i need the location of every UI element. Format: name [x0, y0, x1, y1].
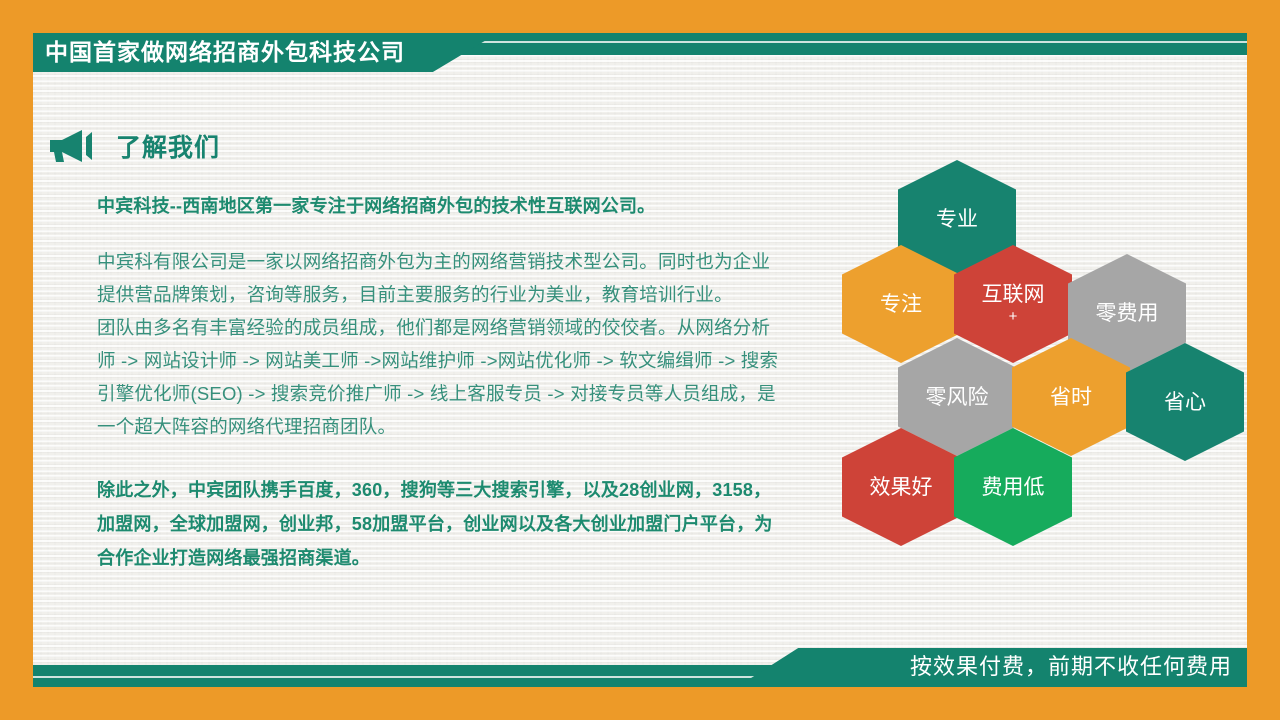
megaphone-icon — [48, 128, 94, 164]
hexagon-cluster: 专业专注互联网+零费用零风险省时省心效果好费用低 — [830, 150, 1250, 540]
paragraph-2: 团队由多名有丰富经验的成员组成，他们都是网络营销领域的佼佼者。从网络分析师 ->… — [97, 311, 787, 443]
paragraph-3: 除此之外，中宾团队携手百度，360，搜狗等三大搜索引擎，以及28创业网，3158… — [97, 473, 787, 575]
lead-paragraph: 中宾科技--西南地区第一家专注于网络招商外包的技术性互联网公司。 — [97, 190, 787, 223]
slide-canvas: 中国首家做网络招商外包科技公司 了解我们 中宾科技--西南地区第一家专注于网络招… — [0, 0, 1280, 720]
hexagon-label: 费用低 — [982, 475, 1045, 500]
paragraph-1: 中宾科有限公司是一家以网络招商外包为主的网络营销技术型公司。同时也为企业提供营品… — [97, 245, 787, 311]
hexagon-label: 效果好 — [870, 475, 933, 500]
hexagon-label: 省时 — [1050, 385, 1092, 410]
footer-tagline: 按效果付费，前期不收任何费用 — [910, 652, 1232, 682]
section-title: 了解我们 — [116, 128, 220, 164]
section-heading: 了解我们 — [48, 128, 220, 164]
hexagon-label: 零费用 — [1096, 301, 1159, 326]
hexagon-label: 省心 — [1164, 390, 1206, 415]
hexagon-label: 零风险 — [926, 385, 989, 410]
body-text-column: 中宾科技--西南地区第一家专注于网络招商外包的技术性互联网公司。 中宾科有限公司… — [97, 190, 787, 575]
hexagon-sublabel: + — [982, 307, 1045, 326]
hexagon-label: 专业 — [936, 207, 978, 232]
page-title: 中国首家做网络招商外包科技公司 — [45, 37, 405, 68]
hexagon-label: 互联网 — [982, 282, 1045, 307]
hexagon-label: 专注 — [880, 292, 922, 317]
